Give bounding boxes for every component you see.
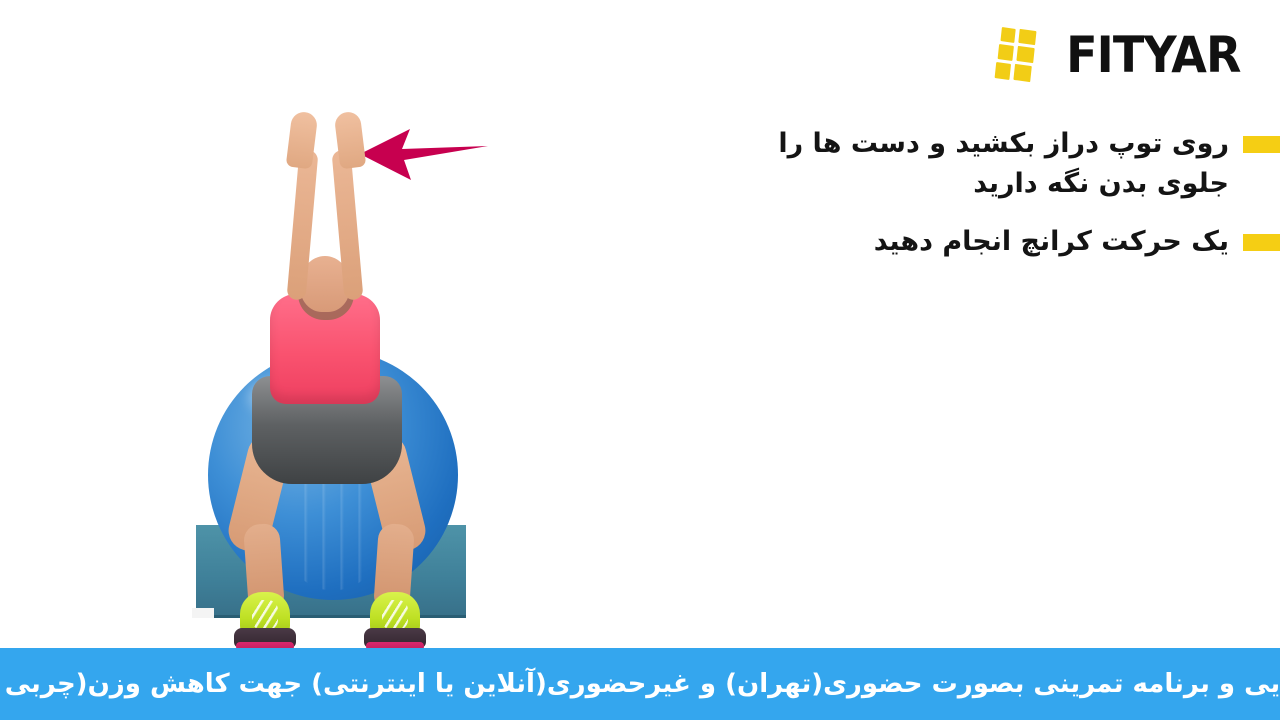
right-hand — [334, 111, 367, 170]
left-shoe — [234, 592, 296, 656]
list-item: یک حرکت کرانچ انجام دهید — [720, 222, 1280, 262]
ticker-text: م غذایی و برنامه تمرینی بصورت حضوری(تهرا… — [5, 669, 1280, 699]
bullet-marker-1-icon — [1243, 136, 1280, 153]
bottom-ticker-banner: م غذایی و برنامه تمرینی بصورت حضوری(تهرا… — [0, 648, 1280, 720]
exercise-demo-photo — [190, 98, 472, 618]
right-shoe — [364, 592, 426, 656]
instruction-text-2: یک حرکت کرانچ انجام دهید — [720, 222, 1229, 262]
instruction-list: روی توپ دراز بکشید و دست ها را جلوی بدن … — [720, 124, 1280, 276]
instruction-text-1: روی توپ دراز بکشید و دست ها را جلوی بدن … — [720, 124, 1229, 204]
brand-wordmark: FITYAR — [1066, 30, 1240, 80]
bullet-marker-2-icon — [1243, 234, 1280, 251]
slide-canvas: FITYAR روی توپ دراز بکشید و دست ها را جل… — [0, 0, 1280, 720]
fityar-grid-mark-icon — [994, 28, 1040, 82]
list-item: روی توپ دراز بکشید و دست ها را جلوی بدن … — [720, 124, 1280, 204]
brand-logo: FITYAR — [997, 28, 1240, 82]
